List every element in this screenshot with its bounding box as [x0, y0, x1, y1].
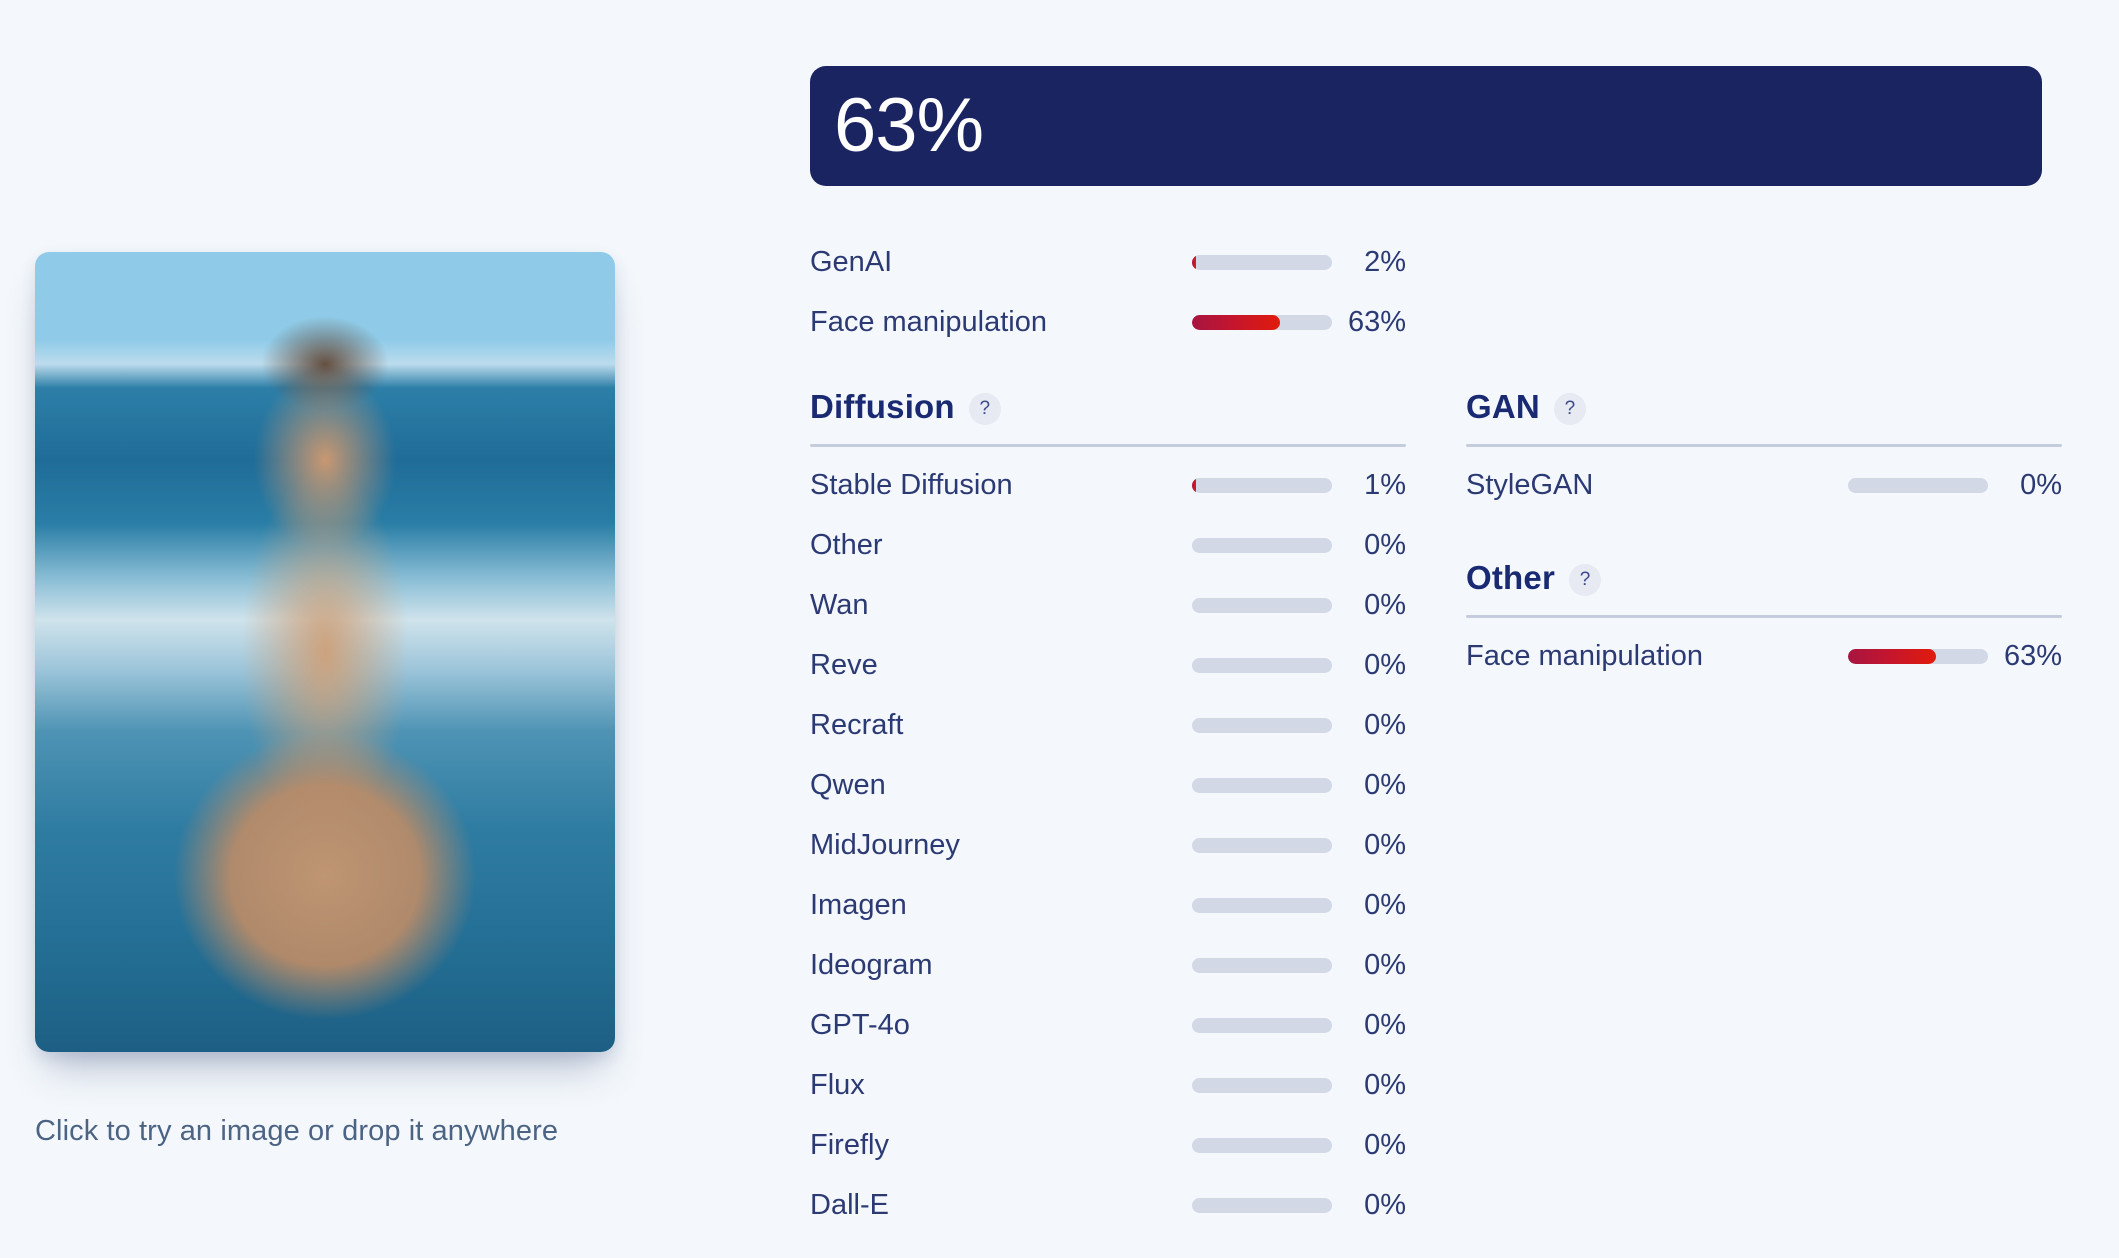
gan-rows: StyleGAN0% — [1466, 455, 2062, 515]
summary-row-bar — [1192, 315, 1332, 330]
detection-row: Wan0% — [810, 575, 1406, 635]
overall-score-banner: 63% — [810, 66, 2042, 186]
other-section-header: Other ? — [1466, 559, 2062, 615]
detection-row-bar — [1192, 1138, 1332, 1153]
detection-row-percent: 0% — [1332, 709, 1406, 742]
detection-row: Flux0% — [810, 1055, 1406, 1115]
detection-row-label: StyleGAN — [1466, 469, 1848, 502]
detection-row: Imagen0% — [810, 875, 1406, 935]
diffusion-column: Diffusion ? Stable Diffusion1%Other0%Wan… — [810, 388, 1406, 1235]
summary-row-label: GenAI — [810, 246, 1192, 279]
detection-row-bar-fill — [1192, 478, 1196, 493]
detection-row-bar — [1192, 658, 1332, 673]
detection-row-label: Other — [810, 529, 1192, 562]
detection-row-label: Recraft — [810, 709, 1192, 742]
detection-row: Ideogram0% — [810, 935, 1406, 995]
results-pane: 63% GenAI 2% Face manipulation 63% — [810, 0, 2119, 1258]
summary-row-bar-fill — [1192, 255, 1196, 270]
detection-row-bar — [1192, 958, 1332, 973]
sections-columns: Diffusion ? Stable Diffusion1%Other0%Wan… — [810, 388, 2119, 1235]
detection-row-label: Flux — [810, 1069, 1192, 1102]
gan-other-column: GAN ? StyleGAN0% Other ? Face manipulati… — [1466, 388, 2062, 1235]
detection-row-percent: 0% — [1332, 829, 1406, 862]
detection-row-bar — [1192, 898, 1332, 913]
summary-row-percent: 2% — [1332, 246, 1406, 279]
detection-row: Qwen0% — [810, 755, 1406, 815]
section-divider — [810, 444, 1406, 447]
detection-row-bar — [1192, 1018, 1332, 1033]
summary-row-bar — [1192, 255, 1332, 270]
detection-row-percent: 0% — [1332, 1009, 1406, 1042]
detection-row-bar — [1192, 1198, 1332, 1213]
detection-row-percent: 0% — [1332, 1189, 1406, 1222]
detection-row-label: Qwen — [810, 769, 1192, 802]
detection-row-percent: 0% — [1332, 769, 1406, 802]
detection-row: MidJourney0% — [810, 815, 1406, 875]
other-title: Other — [1466, 559, 1555, 597]
detection-row: Other0% — [810, 515, 1406, 575]
detection-row-bar — [1848, 478, 1988, 493]
detection-row-percent: 63% — [1988, 640, 2062, 673]
other-rows: Face manipulation63% — [1466, 626, 2062, 686]
detection-row-percent: 1% — [1332, 469, 1406, 502]
detection-row: Dall-E0% — [810, 1175, 1406, 1235]
section-spacer — [1466, 515, 2062, 559]
diffusion-section-header: Diffusion ? — [810, 388, 1406, 444]
summary-row-bar-fill — [1192, 315, 1280, 330]
detection-row-bar — [1192, 778, 1332, 793]
detection-row-bar-fill — [1848, 649, 1936, 664]
dropzone-caption[interactable]: Click to try an image or drop it anywher… — [35, 1115, 558, 1148]
section-divider — [1466, 615, 2062, 618]
detection-row-label: Reve — [810, 649, 1192, 682]
detection-row-label: Imagen — [810, 889, 1192, 922]
help-icon[interactable]: ? — [1554, 393, 1586, 425]
summary-row: Face manipulation 63% — [810, 292, 1406, 352]
detection-row-percent: 0% — [1332, 1069, 1406, 1102]
detection-row-bar — [1192, 598, 1332, 613]
image-pane: Click to try an image or drop it anywher… — [0, 0, 810, 1258]
detection-row-label: Stable Diffusion — [810, 469, 1192, 502]
summary-list: GenAI 2% Face manipulation 63% — [810, 232, 1406, 352]
detection-row-percent: 0% — [1988, 469, 2062, 502]
detection-row-percent: 0% — [1332, 949, 1406, 982]
detection-row: GPT-4o0% — [810, 995, 1406, 1055]
detection-row-bar — [1848, 649, 1988, 664]
summary-row-label: Face manipulation — [810, 306, 1192, 339]
detection-row-label: Wan — [810, 589, 1192, 622]
detection-row-label: Firefly — [810, 1129, 1192, 1162]
detection-row-label: MidJourney — [810, 829, 1192, 862]
summary-row: GenAI 2% — [810, 232, 1406, 292]
uploaded-image-thumbnail — [35, 252, 615, 1052]
detection-row-bar — [1192, 838, 1332, 853]
detection-row-bar — [1192, 478, 1332, 493]
detection-row: Firefly0% — [810, 1115, 1406, 1175]
gan-title: GAN — [1466, 388, 1540, 426]
summary-row-percent: 63% — [1332, 306, 1406, 339]
detection-row-bar — [1192, 1078, 1332, 1093]
overall-score-value: 63% — [834, 88, 983, 164]
detection-row-label: Dall-E — [810, 1189, 1192, 1222]
detection-row-percent: 0% — [1332, 589, 1406, 622]
detection-row-bar — [1192, 718, 1332, 733]
detection-row-label: Ideogram — [810, 949, 1192, 982]
detection-row: Face manipulation63% — [1466, 626, 2062, 686]
gan-section-header: GAN ? — [1466, 388, 2062, 444]
detection-row-percent: 0% — [1332, 1129, 1406, 1162]
section-divider — [1466, 444, 2062, 447]
image-dropzone[interactable] — [35, 252, 615, 1052]
help-icon[interactable]: ? — [969, 393, 1001, 425]
diffusion-title: Diffusion — [810, 388, 955, 426]
detection-row-bar — [1192, 538, 1332, 553]
help-icon[interactable]: ? — [1569, 564, 1601, 596]
detection-row: StyleGAN0% — [1466, 455, 2062, 515]
diffusion-rows: Stable Diffusion1%Other0%Wan0%Reve0%Recr… — [810, 455, 1406, 1235]
detection-row-percent: 0% — [1332, 889, 1406, 922]
detection-row: Recraft0% — [810, 695, 1406, 755]
detection-row-percent: 0% — [1332, 649, 1406, 682]
detector-result-page: Click to try an image or drop it anywher… — [0, 0, 2119, 1258]
detection-row-label: GPT-4o — [810, 1009, 1192, 1042]
detection-row: Reve0% — [810, 635, 1406, 695]
detection-row-percent: 0% — [1332, 529, 1406, 562]
detection-row-label: Face manipulation — [1466, 640, 1848, 673]
detection-row: Stable Diffusion1% — [810, 455, 1406, 515]
